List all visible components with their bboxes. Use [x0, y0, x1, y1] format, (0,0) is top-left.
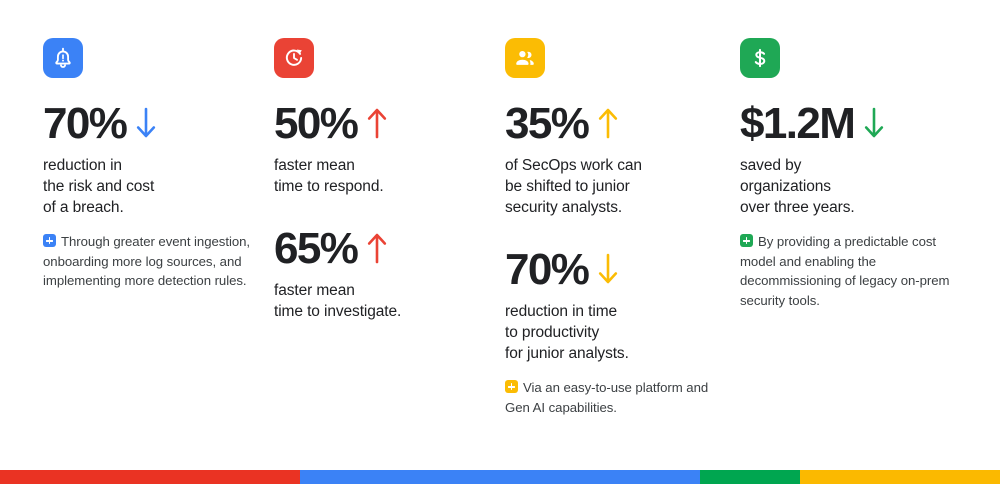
stat-description: reduction inthe risk and costof a breach… — [43, 155, 260, 218]
footnote-text: Through greater event ingestion, onboard… — [43, 234, 250, 288]
stat-item: 35%of SecOps work canbe shifted to junio… — [505, 100, 726, 218]
stat-description: faster meantime to investigate. — [274, 280, 491, 322]
stat-column-response-time: 50%faster meantime to respond.65%faster … — [274, 38, 505, 324]
footnote-text: By providing a predictable cost model an… — [740, 234, 949, 308]
stat-column-secops-work: 35%of SecOps work canbe shifted to junio… — [505, 38, 740, 417]
stat-value: 35% — [505, 102, 588, 146]
stat-headline: 70% — [505, 246, 726, 294]
trend-arrow-up-icon — [366, 231, 388, 270]
people-group-icon-tile — [505, 38, 545, 78]
stat-description: reduction in timeto productivityfor juni… — [505, 301, 726, 364]
stat-columns: 70%reduction inthe risk and costof a bre… — [43, 38, 983, 417]
footnote-text: Via an easy-to-use platform and Gen AI c… — [505, 380, 708, 415]
stat-headline: $1.2M — [740, 100, 966, 148]
trend-arrow-down-icon — [597, 252, 619, 291]
dollar-sign-icon — [748, 46, 772, 70]
trend-arrow-down-icon — [135, 106, 157, 145]
yellow-segment — [800, 470, 1000, 484]
stat-item: 70%reduction inthe risk and costof a bre… — [43, 100, 260, 218]
stat-item: 50%faster meantime to respond. — [274, 100, 491, 197]
people-group-icon — [512, 45, 538, 71]
trend-arrow-up-icon — [366, 106, 388, 145]
bell-alert-icon — [50, 45, 76, 71]
green-segment — [700, 470, 800, 484]
google-color-bar — [0, 470, 1000, 484]
dollar-sign-icon-tile — [740, 38, 780, 78]
stat-value: $1.2M — [740, 102, 854, 146]
stat-description: saved byorganizationsover three years. — [740, 155, 966, 218]
infographic-board: 70%reduction inthe risk and costof a bre… — [0, 0, 1000, 470]
stat-value: 70% — [505, 248, 588, 292]
stat-column-alerting: 70%reduction inthe risk and costof a bre… — [43, 38, 274, 291]
clock-refresh-icon-tile — [274, 38, 314, 78]
stat-footnote: By providing a predictable cost model an… — [740, 232, 966, 310]
plus-icon — [505, 380, 518, 393]
trend-arrow-down-icon — [863, 106, 885, 145]
stat-footnote: Via an easy-to-use platform and Gen AI c… — [505, 378, 726, 417]
blue-segment — [300, 470, 700, 484]
stat-headline: 70% — [43, 100, 260, 148]
plus-icon — [740, 234, 753, 247]
stat-value: 50% — [274, 102, 357, 146]
stat-headline: 35% — [505, 100, 726, 148]
stat-headline: 50% — [274, 100, 491, 148]
stat-column-cost-savings: $1.2Msaved byorganizationsover three yea… — [740, 38, 980, 310]
stat-description: faster meantime to respond. — [274, 155, 491, 197]
stat-item: 70%reduction in timeto productivityfor j… — [505, 246, 726, 364]
stat-value: 65% — [274, 227, 357, 271]
plus-icon — [43, 234, 56, 247]
stat-description: of SecOps work canbe shifted to juniorse… — [505, 155, 726, 218]
stat-headline: 65% — [274, 225, 491, 273]
stat-value: 70% — [43, 102, 126, 146]
clock-refresh-icon — [281, 45, 307, 71]
red-segment — [0, 470, 300, 484]
stat-footnote: Through greater event ingestion, onboard… — [43, 232, 260, 291]
trend-arrow-up-icon — [597, 106, 619, 145]
bell-alert-icon-tile — [43, 38, 83, 78]
stat-item: 65%faster meantime to investigate. — [274, 225, 491, 322]
stat-item: $1.2Msaved byorganizationsover three yea… — [740, 100, 966, 218]
